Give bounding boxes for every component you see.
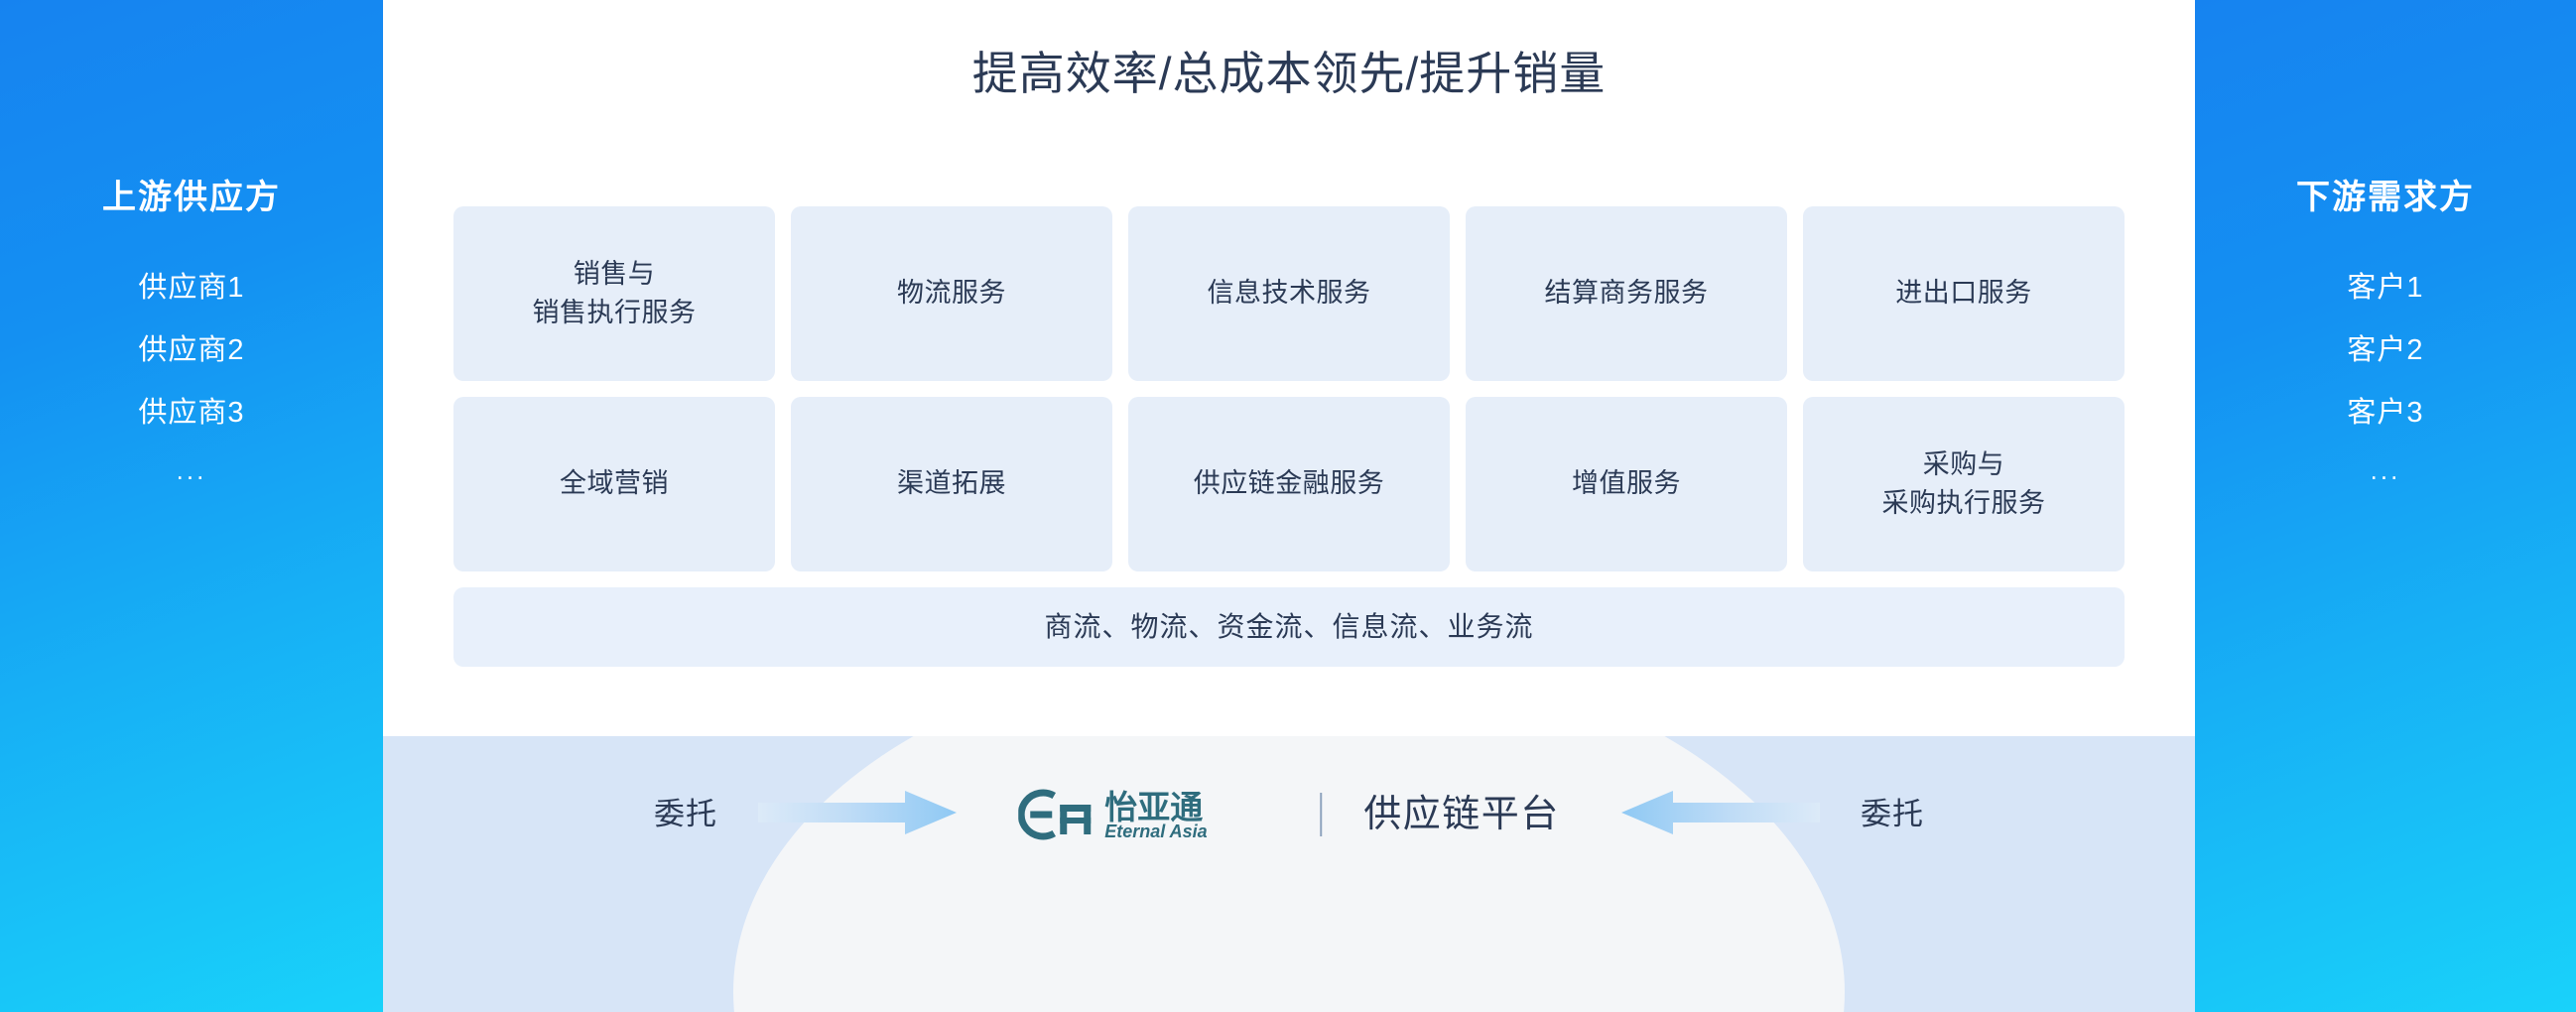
service-card-logistics[interactable]: 物流服务 (791, 206, 1112, 381)
entrust-label-right: 委托 (1861, 799, 1924, 829)
service-card-value-added[interactable]: 增值服务 (1466, 397, 1787, 571)
platform-band: 委托 (383, 736, 2195, 1012)
platform-logo-cluster: 怡亚通 Eternal Asia 供应链平台 (1018, 789, 1560, 840)
eternal-asia-logo-icon (1018, 789, 1095, 840)
logo-en-text: Eternal Asia (1104, 822, 1207, 840)
eternal-asia-wordmark-icon: 怡亚通 Eternal Asia (1104, 789, 1268, 840)
page-title: 提高效率/总成本领先/提升销量 (383, 47, 2195, 101)
service-card-settlement[interactable]: 结算商务服务 (1466, 206, 1787, 381)
service-card-channel-expansion[interactable]: 渠道拓展 (791, 397, 1112, 571)
upstream-list-ellipsis: ... (177, 457, 207, 483)
center-board: 提高效率/总成本领先/提升销量 销售与 销售执行服务 物流服务 信息技术服务 结… (383, 0, 2195, 1012)
downstream-list-ellipsis: ... (2371, 457, 2401, 483)
service-card-supply-chain-finance[interactable]: 供应链金融服务 (1128, 397, 1450, 571)
list-item: 客户2 (2347, 336, 2423, 365)
list-item: 供应商3 (138, 399, 244, 428)
logo-divider (1320, 793, 1322, 836)
service-card-it[interactable]: 信息技术服务 (1128, 206, 1450, 381)
upstream-supplier-list: 供应商1 供应商2 供应商3 (138, 274, 244, 428)
list-item: 客户1 (2347, 274, 2423, 303)
service-card-row-1: 销售与 销售执行服务 物流服务 信息技术服务 结算商务服务 进出口服务 (453, 206, 2125, 381)
decorative-dome-shape (733, 736, 1845, 1012)
downstream-panel-title: 下游需求方 (2296, 181, 2475, 214)
service-card-import-export[interactable]: 进出口服务 (1803, 206, 2125, 381)
service-card-row-2: 全域营销 渠道拓展 供应链金融服务 增值服务 采购与 采购执行服务 (453, 397, 2125, 571)
arrow-left-icon (1621, 791, 1820, 834)
arrow-right-icon (758, 791, 957, 834)
list-item: 客户3 (2347, 399, 2423, 428)
infographic-root: 上游供应方 供应商1 供应商2 供应商3 ... 下游需求方 客户1 客户2 客… (0, 0, 2576, 1012)
platform-name-label: 供应链平台 (1363, 796, 1560, 833)
upstream-suppliers-panel: 上游供应方 供应商1 供应商2 供应商3 ... (0, 0, 383, 1012)
service-card-grid: 销售与 销售执行服务 物流服务 信息技术服务 结算商务服务 进出口服务 全域营销… (453, 206, 2125, 667)
flows-summary-bar: 商流、物流、资金流、信息流、业务流 (453, 587, 2125, 667)
service-card-omnichannel-marketing[interactable]: 全域营销 (453, 397, 775, 571)
upstream-panel-title: 上游供应方 (102, 181, 281, 214)
service-card-procurement[interactable]: 采购与 采购执行服务 (1803, 397, 2125, 571)
list-item: 供应商2 (138, 336, 244, 365)
service-card-sales[interactable]: 销售与 销售执行服务 (453, 206, 775, 381)
downstream-customers-panel: 下游需求方 客户1 客户2 客户3 ... (2195, 0, 2576, 1012)
entrust-label-left: 委托 (654, 799, 717, 829)
list-item: 供应商1 (138, 274, 244, 303)
downstream-customer-list: 客户1 客户2 客户3 (2347, 274, 2423, 428)
